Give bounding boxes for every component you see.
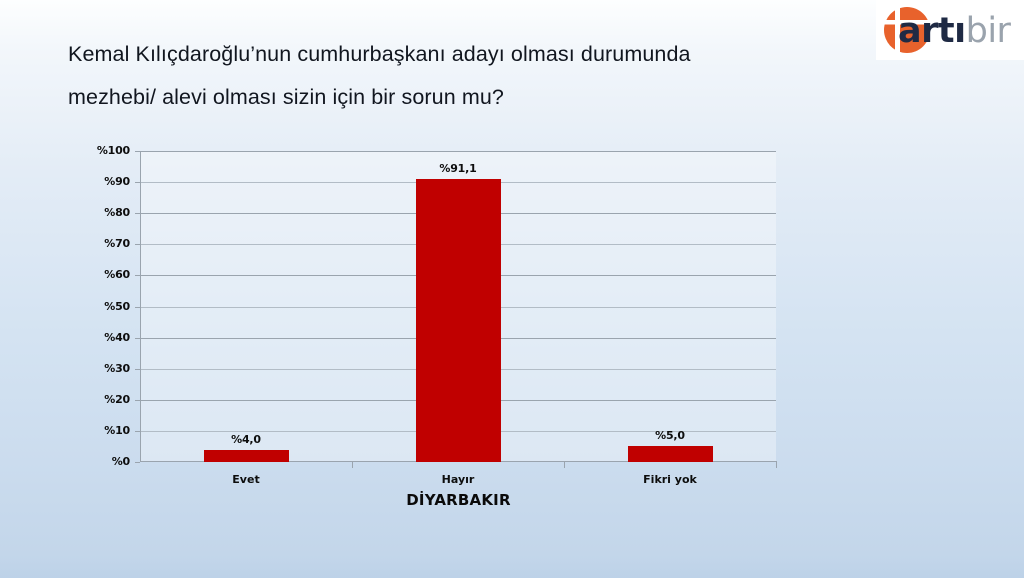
x-axis-category-label: Fikri yok [610,473,730,486]
y-axis-tick [135,244,140,245]
x-axis-tick [776,462,777,468]
bar-value-label: %4,0 [196,433,296,446]
y-axis-label: %80 [70,206,130,219]
bar [204,450,289,462]
bar-chart: %100%90%80%70%60%50%40%30%20%10%0 %4,0%9… [0,0,1024,578]
y-axis-label: %90 [70,175,130,188]
x-axis-tick [352,462,353,468]
y-axis-tick [135,462,140,463]
y-axis-label: %0 [70,455,130,468]
y-axis-label: %60 [70,268,130,281]
y-axis-tick [135,307,140,308]
y-axis-line [140,151,141,462]
x-axis-category-label: Hayır [398,473,518,486]
bar [628,446,713,462]
y-axis-label: %40 [70,331,130,344]
x-axis-title: DİYARBAKIR [140,491,777,509]
y-axis-tick [135,369,140,370]
y-axis-tick [135,182,140,183]
y-axis-label: %70 [70,237,130,250]
y-axis-label: %50 [70,300,130,313]
gridline [140,151,776,152]
y-axis-label: %20 [70,393,130,406]
x-axis-category-label: Evet [186,473,306,486]
y-axis-label: %100 [70,144,130,157]
y-axis-tick [135,213,140,214]
bar [416,179,501,462]
bar-value-label: %91,1 [408,162,508,175]
y-axis-tick [135,338,140,339]
y-axis-labels: %100%90%80%70%60%50%40%30%20%10%0 [68,0,130,578]
bar-value-label: %5,0 [620,429,720,442]
x-axis-tick [564,462,565,468]
y-axis-tick [135,431,140,432]
y-axis-label: %10 [70,424,130,437]
y-axis-tick [135,275,140,276]
y-axis-label: %30 [70,362,130,375]
y-axis-tick [135,151,140,152]
y-axis-tick [135,400,140,401]
